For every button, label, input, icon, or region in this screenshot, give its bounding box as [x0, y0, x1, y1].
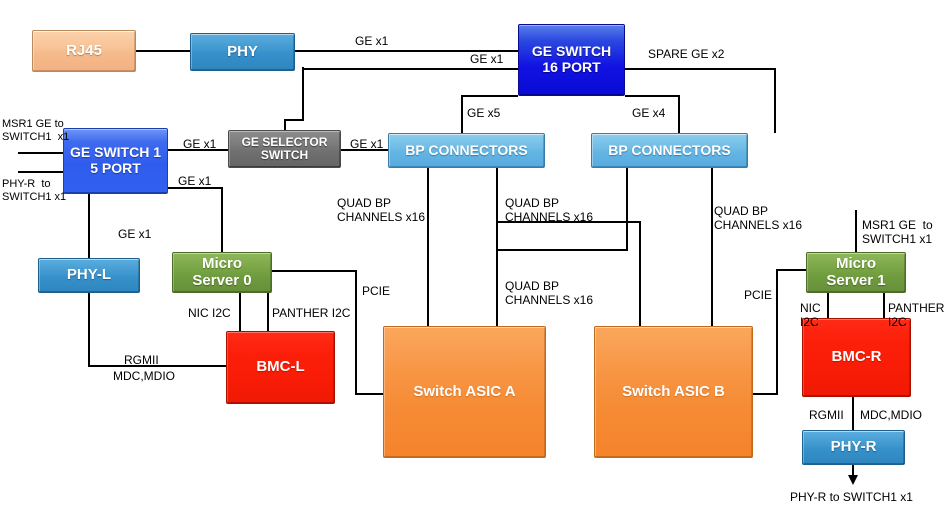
edge-label-lbl_pcie_left: PCIE — [362, 284, 390, 298]
edge-label-lbl_mdc_mdio_l: MDC,MDIO — [113, 369, 175, 383]
edge-label-lbl_spare_ge_x2: SPARE GE x2 — [648, 47, 724, 61]
diagram-canvas: RJ45PHYGE SWITCH 16 PORTGE SWITCH 1 5 PO… — [0, 0, 952, 507]
edge-label-lbl_pcie_right: PCIE — [744, 288, 772, 302]
block-label-bmcr: BMC-R — [832, 349, 882, 366]
block-label-msrv0: Micro Server 0 — [192, 256, 251, 290]
block-label-ge16: GE SWITCH 16 PORT — [532, 44, 611, 75]
block-label-ge5: GE SWITCH 1 5 PORT — [70, 145, 161, 176]
block-asicb[interactable]: Switch ASIC B — [594, 326, 753, 458]
wire-phy-down-selector — [285, 67, 303, 130]
block-phyl[interactable]: PHY-L — [38, 258, 140, 293]
block-label-msrv1: Micro Server 1 — [826, 256, 885, 290]
block-bpconn_r[interactable]: BP CONNECTORS — [591, 133, 748, 168]
block-label-asicb: Switch ASIC B — [622, 384, 725, 401]
wire-ge16-spare — [625, 69, 775, 133]
wire-bpconnl-asicb — [497, 222, 640, 326]
edge-label-lbl_ge_x1_sel_out: GE x1 — [350, 137, 383, 151]
edge-label-lbl_ge_x1_top: GE x1 — [355, 34, 388, 48]
edge-label-lbl_ge_x5: GE x5 — [467, 106, 500, 120]
edge-label-lbl_nic_i2c_r: NIC I2C — [800, 301, 821, 329]
block-label-bmcl: BMC-L — [256, 359, 304, 376]
block-label-bpconn_r: BP CONNECTORS — [608, 143, 730, 159]
block-bpconn_l[interactable]: BP CONNECTORS — [388, 133, 545, 168]
block-label-bpconn_l: BP CONNECTORS — [405, 143, 527, 159]
block-bmcr[interactable]: BMC-R — [802, 318, 911, 397]
edge-label-lbl_ge_x1_msrv: GE x1 — [178, 174, 211, 188]
block-label-rj45: RJ45 — [66, 43, 102, 60]
edge-label-lbl_phyr_left: PHY-R to SWITCH1 x1 — [2, 178, 66, 204]
edge-label-lbl_mdc_mdio_r: MDC,MDIO — [860, 408, 922, 422]
edge-label-lbl_msr1_left: MSR1 GE to SWITCH1 x1 — [2, 118, 69, 144]
block-phy[interactable]: PHY — [190, 33, 295, 71]
edge-label-lbl_ge_x1_phyl: GE x1 — [118, 227, 151, 241]
edge-label-lbl_ge_x4: GE x4 — [632, 106, 665, 120]
edge-label-lbl_quad_a: QUAD BP CHANNELS x16 — [337, 196, 425, 224]
block-label-phyr: PHY-R — [831, 439, 877, 456]
edge-label-lbl_quad_c: QUAD BP CHANNELS x16 — [714, 204, 802, 232]
edge-label-lbl_msr1_right: MSR1 GE to SWITCH1 x1 — [862, 218, 933, 246]
block-label-asica: Switch ASIC A — [413, 384, 515, 401]
block-label-gesel: GE SELECTOR SWITCH — [242, 136, 328, 163]
block-msrv0[interactable]: Micro Server 0 — [172, 252, 272, 293]
edge-label-lbl_phyr_out: PHY-R to SWITCH1 x1 — [790, 490, 913, 504]
edge-label-lbl_rgmii_r: RGMII — [809, 408, 844, 422]
block-ge5[interactable]: GE SWITCH 1 5 PORT — [63, 128, 168, 194]
block-rj45[interactable]: RJ45 — [32, 30, 136, 72]
wire-ge5-msrv0 — [168, 188, 222, 252]
edge-label-lbl_panther_i2c_l: PANTHER I2C — [272, 306, 350, 320]
block-label-phy: PHY — [227, 44, 258, 61]
block-asica[interactable]: Switch ASIC A — [383, 326, 546, 458]
edge-label-lbl_ge_x1_sel_in: GE x1 — [183, 137, 216, 151]
edge-label-lbl_rgmii_l: RGMII — [124, 353, 159, 367]
block-msrv1[interactable]: Micro Server 1 — [806, 252, 906, 293]
block-label-phyl: PHY-L — [67, 267, 111, 284]
edge-label-lbl_quad_b: QUAD BP CHANNELS x16 — [505, 196, 593, 224]
edge-label-lbl_panther_i2c_r: PANTHER I2C — [888, 301, 944, 329]
edge-label-lbl_nic_i2c_l: NIC I2C — [188, 306, 231, 320]
block-bmcl[interactable]: BMC-L — [226, 331, 335, 404]
block-ge16[interactable]: GE SWITCH 16 PORT — [518, 24, 625, 96]
block-gesel[interactable]: GE SELECTOR SWITCH — [228, 130, 341, 168]
block-phyr[interactable]: PHY-R — [802, 430, 905, 465]
edge-label-lbl_ge_x1_top2: GE x1 — [470, 52, 503, 66]
edge-label-lbl_quad_d: QUAD BP CHANNELS x16 — [505, 279, 593, 307]
